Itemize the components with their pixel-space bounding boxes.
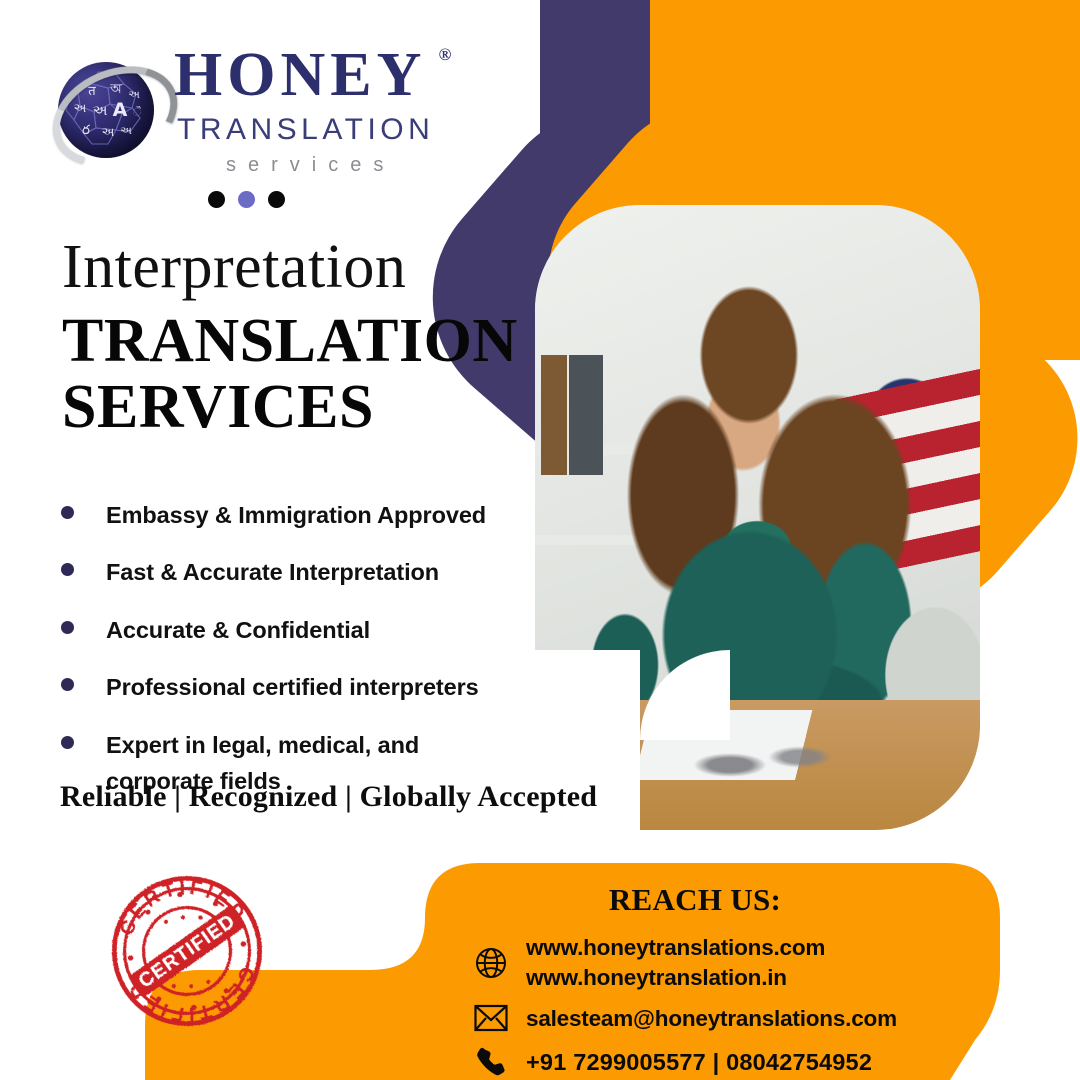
decorative-dots [208,191,285,208]
svg-text:CERTIFIED: CERTIFIED [135,910,240,993]
reach-us-title: REACH US: [470,882,1030,918]
bullet-dot-icon [61,621,74,634]
website-text: www.honeytranslations.com www.honeytrans… [526,934,825,991]
headline-script: Interpretation [62,236,532,298]
bullet-dot-icon [61,563,74,576]
poster-canvas: त অ અ અ અ A ૈ ర અ અ HONEY® [0,0,1080,1080]
certified-stamp: CERTIFIED CERTIFIED CERTIFI [99,863,275,1039]
headline-main: TRANSLATION SERVICES [62,308,532,441]
feature-list: Embassy & Immigration Approved Fast & Ac… [55,497,525,821]
contact-row-website[interactable]: www.honeytranslations.com www.honeytrans… [470,934,1030,991]
list-item: Professional certified interpreters [55,669,525,705]
bullet-dot-icon [61,506,74,519]
list-item: Fast & Accurate Interpretation [55,554,525,590]
website-line-2: www.honeytranslation.in [526,964,825,991]
dot-1 [208,191,225,208]
phone-icon [470,1045,512,1079]
headline-main-line1: TRANSLATION [62,308,532,374]
list-item-label: Fast & Accurate Interpretation [106,554,439,590]
list-item: Embassy & Immigration Approved [55,497,525,533]
headline-block: Interpretation TRANSLATION SERVICES [62,236,532,441]
headline-main-line2: SERVICES [62,374,532,440]
logo-name-primary: HONEY® [174,44,434,106]
reach-us-section: REACH US: www.honeytranslations.com www.… [470,882,1030,1080]
logo-name-secondary: TRANSLATION [174,115,434,145]
envelope-icon [470,1004,512,1032]
tagline: Reliable | Recognized | Globally Accepte… [60,780,597,814]
bullet-dot-icon [61,736,74,749]
brand-logo: त অ અ અ અ A ૈ ర અ અ HONEY® [52,44,434,175]
bullet-dot-icon [61,678,74,691]
logo-honey-text: HONEY [174,41,426,109]
contact-row-phone[interactable]: +91 7299005577 | 08042754952 [470,1045,1030,1079]
globe-icon [470,946,512,980]
list-item: Accurate & Confidential [55,612,525,648]
list-item-label: Professional certified interpreters [106,669,479,705]
dot-3 [268,191,285,208]
phone-text: +91 7299005577 | 08042754952 [526,1048,872,1076]
globe-languages-icon: त অ અ અ અ A ૈ ర અ અ [52,50,164,170]
list-item-label: Accurate & Confidential [106,612,370,648]
website-line-1: www.honeytranslations.com [526,935,825,960]
dot-2 [238,191,255,208]
list-item-label: Embassy & Immigration Approved [106,497,486,533]
registered-mark: ® [439,46,457,63]
email-text: salesteam@honeytranslations.com [526,1005,897,1032]
logo-name-tertiary: services [174,155,434,175]
contact-row-email[interactable]: salesteam@honeytranslations.com [470,1004,1030,1032]
